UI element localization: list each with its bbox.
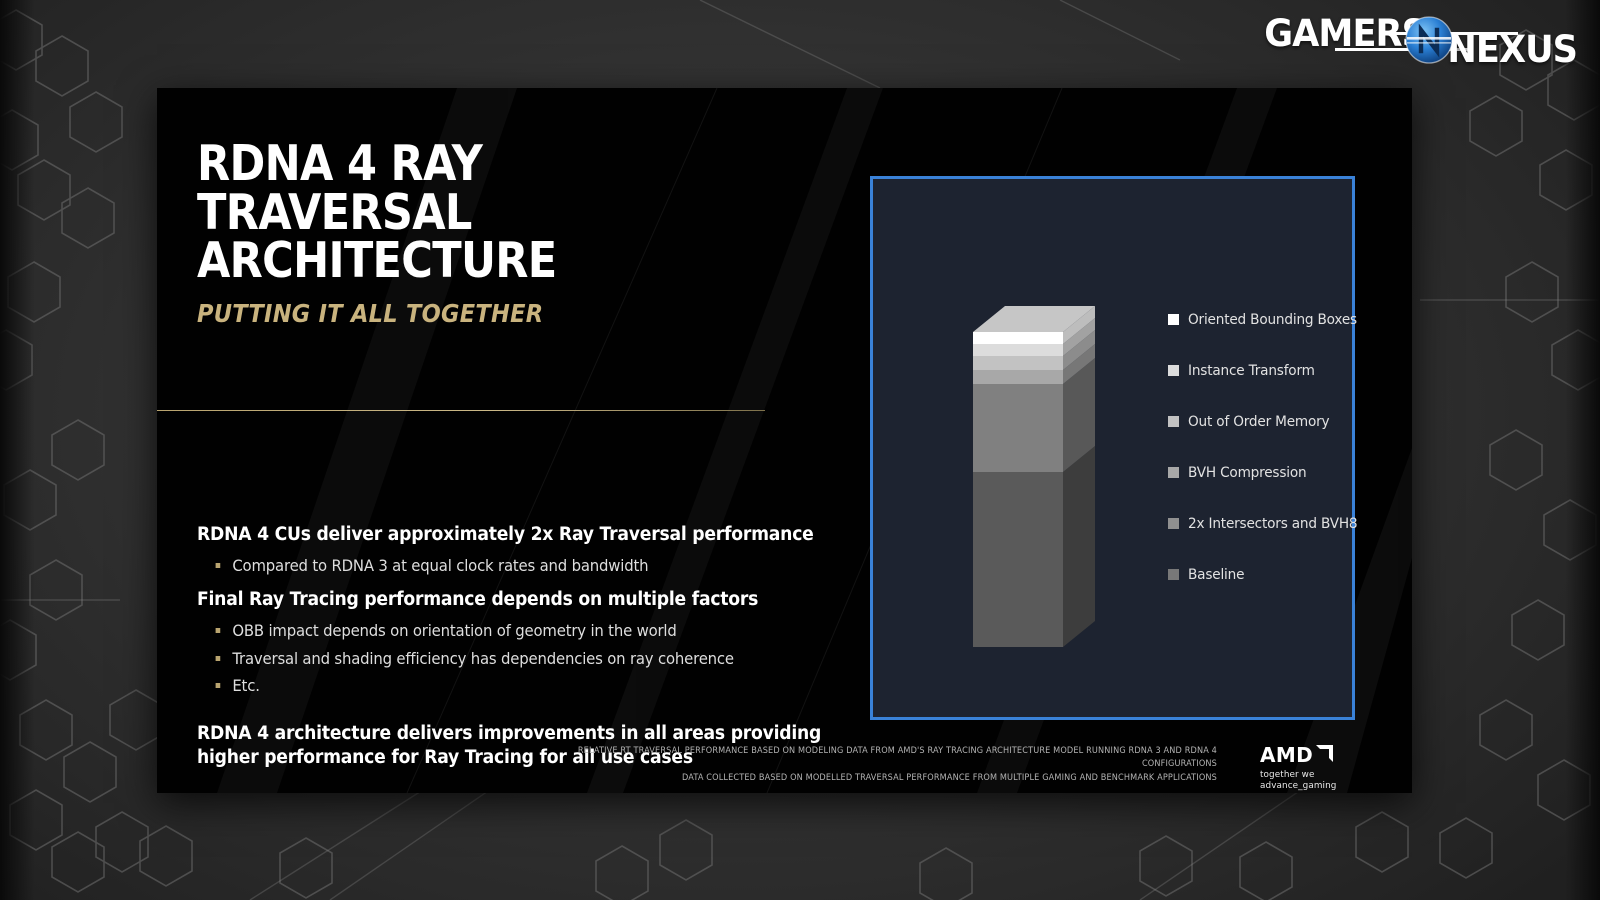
legend-swatch (1168, 365, 1179, 376)
backdrop-vignette-right (1566, 0, 1600, 900)
legend-swatch (1168, 467, 1179, 478)
gamers-nexus-logo: GAMERS NEXUS (1260, 6, 1580, 68)
bullet-sub-item: Compared to RDNA 3 at equal clock rates … (197, 552, 848, 579)
chart-panel: Oriented Bounding Boxes Instance Transfo… (870, 176, 1355, 720)
legend-label: Out of Order Memory (1188, 414, 1329, 430)
legend-item: BVH Compression (1168, 447, 1368, 498)
bullet-sublist: OBB impact depends on orientation of geo… (197, 617, 897, 699)
slide-bullet-area: RDNA 4 CUs deliver approximately 2x Ray … (197, 523, 897, 770)
legend-item: Oriented Bounding Boxes (1168, 294, 1368, 345)
page-backdrop: GAMERS NEXUS (0, 0, 1600, 900)
legend-item: 2x Intersectors and BVH8 (1168, 498, 1368, 549)
bullet-block: RDNA 4 CUs deliver approximately 2x Ray … (197, 523, 897, 579)
stacked-bar-3d-svg (965, 297, 1115, 647)
bullet-sub-item: OBB impact depends on orientation of geo… (197, 617, 848, 644)
legend-swatch (1168, 518, 1179, 529)
bullet-lead: RDNA 4 CUs deliver approximately 2x Ray … (197, 523, 848, 547)
footnote-line: DATA COLLECTED BASED ON MODELLED TRAVERS… (571, 772, 1217, 785)
bullet-lead: Final Ray Tracing performance depends on… (197, 588, 848, 612)
gamers-nexus-emblem-icon (1405, 16, 1453, 64)
amd-logo: AMD together we advance_gaming (1260, 743, 1390, 791)
legend-label: 2x Intersectors and BVH8 (1188, 516, 1357, 532)
bullet-sub-item: Etc. (197, 672, 848, 699)
title-divider (157, 410, 765, 411)
backdrop-vignette-left (0, 0, 34, 900)
legend-swatch (1168, 314, 1179, 325)
chart-legend: Oriented Bounding Boxes Instance Transfo… (1168, 294, 1368, 600)
bullet-sub-item: Traversal and shading efficiency has dep… (197, 645, 848, 672)
presentation-slide: RDNA 4 RAY TRAVERSAL ARCHITECTURE PUTTIN… (157, 88, 1412, 793)
legend-item: Out of Order Memory (1168, 396, 1368, 447)
amd-tagline: together we advance_gaming (1260, 769, 1385, 791)
bar-segment-baseline (973, 446, 1095, 647)
legend-swatch (1168, 569, 1179, 580)
slide-title: RDNA 4 RAY TRAVERSAL ARCHITECTURE (197, 140, 778, 286)
amd-wordmark-row: AMD (1260, 743, 1390, 767)
slide-subtitle: PUTTING IT ALL TOGETHER (197, 299, 791, 328)
amd-wordmark: AMD (1260, 743, 1313, 767)
amd-arrow-icon (1316, 745, 1333, 762)
footnote-line: RELATIVE RT TRAVERSAL PERFORMANCE BASED … (571, 745, 1217, 772)
legend-label: Oriented Bounding Boxes (1188, 312, 1357, 328)
bullet-block: Final Ray Tracing performance depends on… (197, 588, 897, 699)
stacked-bar-chart (965, 297, 1115, 647)
legend-item: Instance Transform (1168, 345, 1368, 396)
legend-label: Instance Transform (1188, 363, 1315, 379)
legend-label: BVH Compression (1188, 465, 1306, 481)
legend-item: Baseline (1168, 549, 1368, 600)
legend-label: Baseline (1188, 567, 1244, 583)
slide-heading-block: RDNA 4 RAY TRAVERSAL ARCHITECTURE PUTTIN… (197, 140, 857, 328)
slide-footnotes: RELATIVE RT TRAVERSAL PERFORMANCE BASED … (571, 745, 1217, 785)
bullet-sublist: Compared to RDNA 3 at equal clock rates … (197, 552, 897, 579)
legend-swatch (1168, 416, 1179, 427)
